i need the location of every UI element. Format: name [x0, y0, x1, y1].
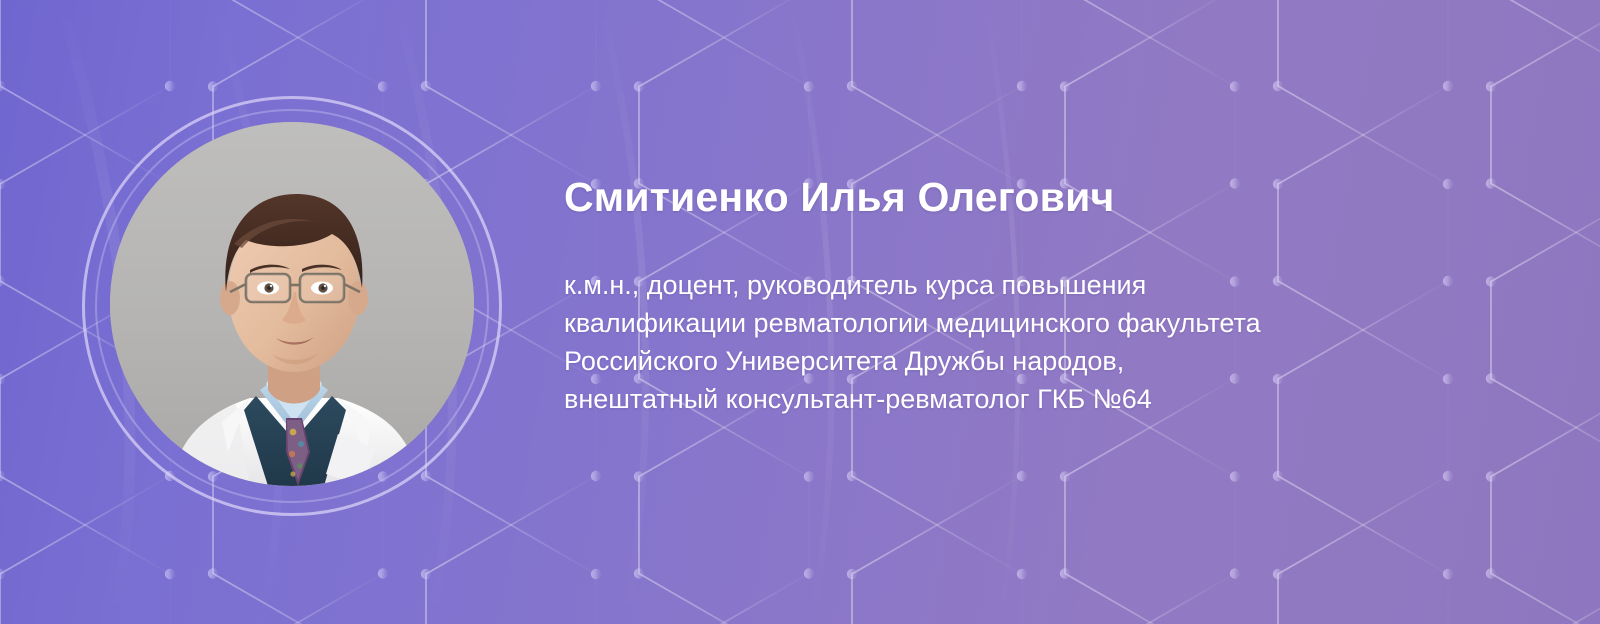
portrait-container [82, 96, 502, 516]
doctor-description-line-1: к.м.н., доцент, руководитель курса повыш… [564, 266, 1464, 304]
doctor-description: к.м.н., доцент, руководитель курса повыш… [564, 266, 1464, 418]
doctor-description-line-4: внештатный консультант-ревматолог ГКБ №6… [564, 380, 1464, 418]
doctor-info-block: Смитиенко Илья Олегович к.м.н., доцент, … [564, 175, 1464, 418]
doctor-description-line-2: квалификации ревматологии медицинского ф… [564, 304, 1464, 342]
doctor-description-line-3: Российского Университета Дружбы народов, [564, 342, 1464, 380]
doctor-profile-banner: Смитиенко Илья Олегович к.м.н., доцент, … [0, 0, 1600, 624]
doctor-portrait-photo [110, 122, 474, 486]
doctor-name: Смитиенко Илья Олегович [564, 175, 1464, 220]
